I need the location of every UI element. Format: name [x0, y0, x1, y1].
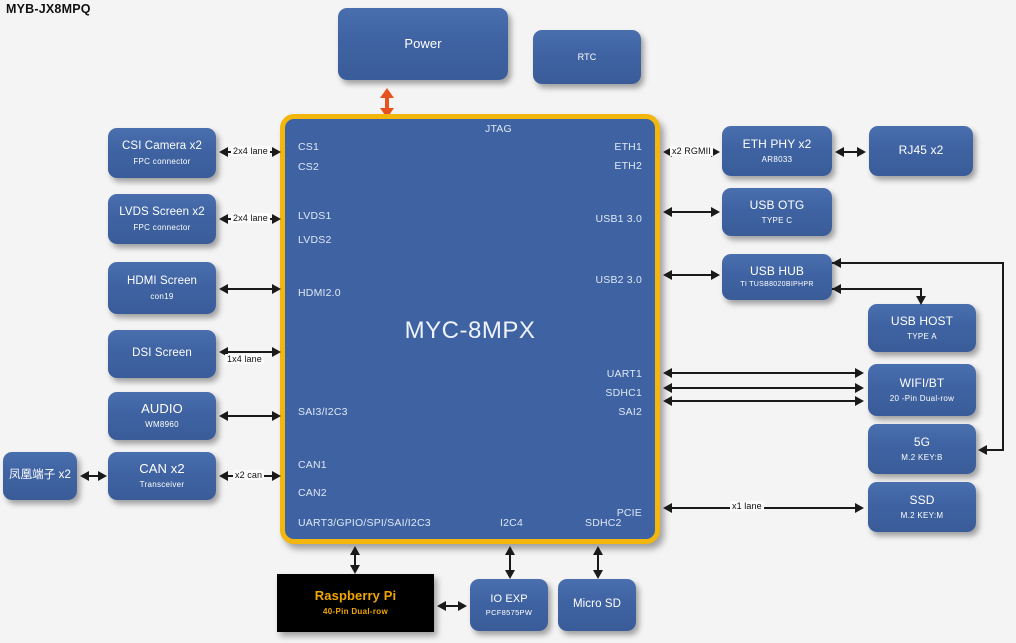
block-io-exp-title: IO EXP: [490, 593, 527, 606]
soc-name: MYC-8MPX: [285, 317, 655, 345]
block-eth-phy-title: ETH PHY x2: [743, 138, 812, 152]
block-raspberry-pi-subtitle: 40-Pin Dual-row: [323, 607, 388, 616]
soc-port-sdhc1: SDHC1: [605, 387, 642, 399]
hdmi-link-line: [228, 288, 276, 290]
uart1-arrow-right-icon: [855, 368, 864, 378]
block-micro-sd-title: Micro SD: [573, 598, 621, 611]
block-phoenix-terminal-title: 凤凰端子 x2: [9, 469, 71, 482]
can-arrow-right-icon: [272, 471, 281, 481]
dsi-link-line: [228, 351, 276, 353]
dsi-link-label: 1x4 lane: [225, 354, 264, 364]
uart1-link-line: [672, 372, 857, 374]
rpi-ioexp-arrow-left-icon: [437, 601, 446, 611]
soc-port-eth1: ETH1: [614, 141, 642, 153]
pcie-arrow-left-icon: [663, 503, 672, 513]
dsi-arrow-right-icon: [272, 347, 281, 357]
pcie-link-label: x1 lane: [730, 501, 764, 511]
sai2-link-line: [672, 400, 857, 402]
block-audio[interactable]: AUDIO WM8960: [108, 392, 216, 440]
usbhub-5g-v-line: [1002, 262, 1004, 450]
csi-arrow-left-icon: [219, 147, 228, 157]
sdhc1-link-line: [672, 387, 857, 389]
block-5g-title: 5G: [914, 436, 930, 450]
soc-port-usb2: USB2 3.0: [595, 274, 642, 286]
can-link-label: x2 can: [233, 470, 264, 480]
block-usb-host-title: USB HOST: [891, 315, 953, 329]
usb-otg-arrow-right-icon: [711, 207, 720, 217]
block-can-title: CAN x2: [139, 462, 184, 477]
soc-port-sai2: SAI2: [618, 406, 642, 418]
block-can-subtitle: Transceiver: [140, 480, 185, 489]
soc-port-pcie: PCIE: [617, 507, 642, 519]
audio-arrow-right-icon: [272, 411, 281, 421]
rpi-ioexp-arrow-right-icon: [458, 601, 467, 611]
block-lvds-screen[interactable]: LVDS Screen x2 FPC connector: [108, 194, 216, 244]
soc-port-usb1: USB1 3.0: [595, 213, 642, 225]
usbhub-host-arrow-down-icon: [916, 296, 926, 305]
usb-otg-arrow-left-icon: [663, 207, 672, 217]
block-usb-otg-title: USB OTG: [750, 199, 805, 213]
block-phoenix-terminal[interactable]: 凤凰端子 x2: [3, 452, 77, 500]
block-wifi-bt[interactable]: WIFI/BT 20 -Pin Dual-row: [868, 364, 976, 416]
usb-hub-arrow-right-icon: [711, 270, 720, 280]
soc-port-eth2: ETH2: [614, 160, 642, 172]
rpi-arrow-down-icon: [350, 565, 360, 574]
phoenix-arrow-left-icon: [80, 471, 89, 481]
hdmi-arrow-right-icon: [272, 284, 281, 294]
block-rtc[interactable]: RTC: [533, 30, 641, 84]
usbhub-5g-bottom-line: [986, 449, 1004, 451]
lvds-arrow-left-icon: [219, 214, 228, 224]
block-rj45-title: RJ45 x2: [899, 144, 944, 158]
soc-main-block[interactable]: MYC-8MPX JTAG CS1 CS2 LVDS1 LVDS2 HDMI2.…: [280, 114, 660, 544]
soc-port-hdmi: HDMI2.0: [298, 287, 341, 299]
block-power-title: Power: [404, 37, 441, 52]
usbhub-5g-arrow-left-icon-2: [978, 445, 987, 455]
block-hdmi-screen-title: HDMI Screen: [127, 275, 197, 288]
block-usb-host-subtitle: TYPE A: [907, 332, 937, 341]
hdmi-arrow-left-icon: [219, 284, 228, 294]
soc-port-lvds2: LVDS2: [298, 234, 332, 246]
usb-hub-link-line: [672, 274, 714, 276]
diagram-canvas: MYB-JX8MPQ Power RTC MYC-8MPX JTAG CS1 C…: [0, 0, 1016, 643]
soc-port-can2: CAN2: [298, 487, 327, 499]
block-dsi-screen[interactable]: DSI Screen: [108, 330, 216, 378]
audio-arrow-left-icon: [219, 411, 228, 421]
lvds-link-label: 2x4 lane: [231, 213, 270, 223]
block-rj45[interactable]: RJ45 x2: [869, 126, 973, 176]
pcie-arrow-right-icon: [855, 503, 864, 513]
block-ssd-title: SSD: [910, 494, 935, 508]
soc-port-cs1: CS1: [298, 141, 319, 153]
pcie-link-line: [672, 507, 857, 509]
soc-port-can1: CAN1: [298, 459, 327, 471]
block-usb-otg[interactable]: USB OTG TYPE C: [722, 188, 832, 236]
block-audio-subtitle: WM8960: [145, 420, 179, 429]
soc-port-cs2: CS2: [298, 161, 319, 173]
rj45-arrow-left-icon: [835, 147, 844, 157]
block-ssd[interactable]: SSD M.2 KEY:M: [868, 482, 976, 532]
block-audio-title: AUDIO: [141, 402, 183, 417]
usbhub-host-h-line: [832, 288, 922, 290]
block-raspberry-pi[interactable]: Raspberry Pi 40-Pin Dual-row: [277, 574, 434, 632]
rgmii-link-label: x2 RGMII: [670, 146, 713, 156]
block-io-exp-subtitle: PCF8575PW: [486, 609, 532, 618]
block-usb-hub-subtitle: TI TUSB8020BIPHPR: [740, 281, 813, 289]
block-dsi-screen-title: DSI Screen: [132, 347, 192, 360]
csi-link-label: 2x4 lane: [231, 146, 270, 156]
block-eth-phy[interactable]: ETH PHY x2 AR8033: [722, 126, 832, 176]
block-usb-hub-title: USB HUB: [750, 265, 804, 279]
block-lvds-screen-title: LVDS Screen x2: [119, 206, 205, 219]
block-eth-phy-subtitle: AR8033: [762, 155, 793, 164]
microsd-arrow-down-icon: [593, 570, 603, 579]
usbhub-host-arrow-left-icon: [832, 284, 841, 294]
csi-arrow-right-icon: [272, 147, 281, 157]
block-can[interactable]: CAN x2 Transceiver: [108, 452, 216, 500]
block-usb-host[interactable]: USB HOST TYPE A: [868, 304, 976, 352]
soc-port-jtag: JTAG: [485, 123, 512, 135]
sai2-arrow-right-icon: [855, 396, 864, 406]
soc-port-uart1: UART1: [607, 368, 642, 380]
block-lvds-screen-subtitle: FPC connector: [133, 223, 190, 232]
block-hdmi-screen[interactable]: HDMI Screen con19: [108, 262, 216, 314]
usb-otg-link-line: [672, 211, 714, 213]
sai2-arrow-left-icon: [663, 396, 672, 406]
can-arrow-left-icon: [219, 471, 228, 481]
block-wifi-bt-title: WIFI/BT: [900, 377, 945, 391]
block-raspberry-pi-title: Raspberry Pi: [315, 589, 396, 604]
lvds-arrow-right-icon: [272, 214, 281, 224]
block-power[interactable]: Power: [338, 8, 508, 80]
phoenix-arrow-right-icon: [98, 471, 107, 481]
block-ssd-subtitle: M.2 KEY:M: [901, 511, 944, 520]
rj45-arrow-right-icon: [857, 147, 866, 157]
block-usb-hub[interactable]: USB HUB TI TUSB8020BIPHPR: [722, 254, 832, 300]
block-micro-sd[interactable]: Micro SD: [558, 579, 636, 631]
usb-hub-arrow-left-icon: [663, 270, 672, 280]
soc-port-i2c4: I2C4: [500, 517, 523, 529]
block-io-exp[interactable]: IO EXP PCF8575PW: [470, 579, 548, 631]
block-csi-camera-title: CSI Camera x2: [122, 140, 202, 153]
uart1-arrow-left-icon: [663, 368, 672, 378]
block-csi-camera[interactable]: CSI Camera x2 FPC connector: [108, 128, 216, 178]
block-rtc-title: RTC: [578, 52, 597, 62]
usbhub-5g-top-line: [832, 262, 1004, 264]
ioexp-arrow-down-icon: [505, 570, 515, 579]
sdhc1-arrow-right-icon: [855, 383, 864, 393]
block-usb-otg-subtitle: TYPE C: [762, 216, 793, 225]
soc-port-uart3: UART3/GPIO/SPI/SAI/I2C3: [298, 517, 431, 529]
block-csi-camera-subtitle: FPC connector: [133, 157, 190, 166]
soc-port-lvds1: LVDS1: [298, 210, 332, 222]
usbhub-5g-arrow-left-icon: [832, 258, 841, 268]
soc-port-sai3: SAI3/I2C3: [298, 406, 348, 418]
block-5g[interactable]: 5G M.2 KEY:B: [868, 424, 976, 474]
block-hdmi-screen-subtitle: con19: [150, 292, 173, 301]
block-5g-subtitle: M.2 KEY:B: [901, 453, 942, 462]
page-title: MYB-JX8MPQ: [6, 2, 91, 16]
audio-link-line: [228, 415, 276, 417]
sdhc1-arrow-left-icon: [663, 383, 672, 393]
block-wifi-bt-subtitle: 20 -Pin Dual-row: [890, 394, 954, 403]
